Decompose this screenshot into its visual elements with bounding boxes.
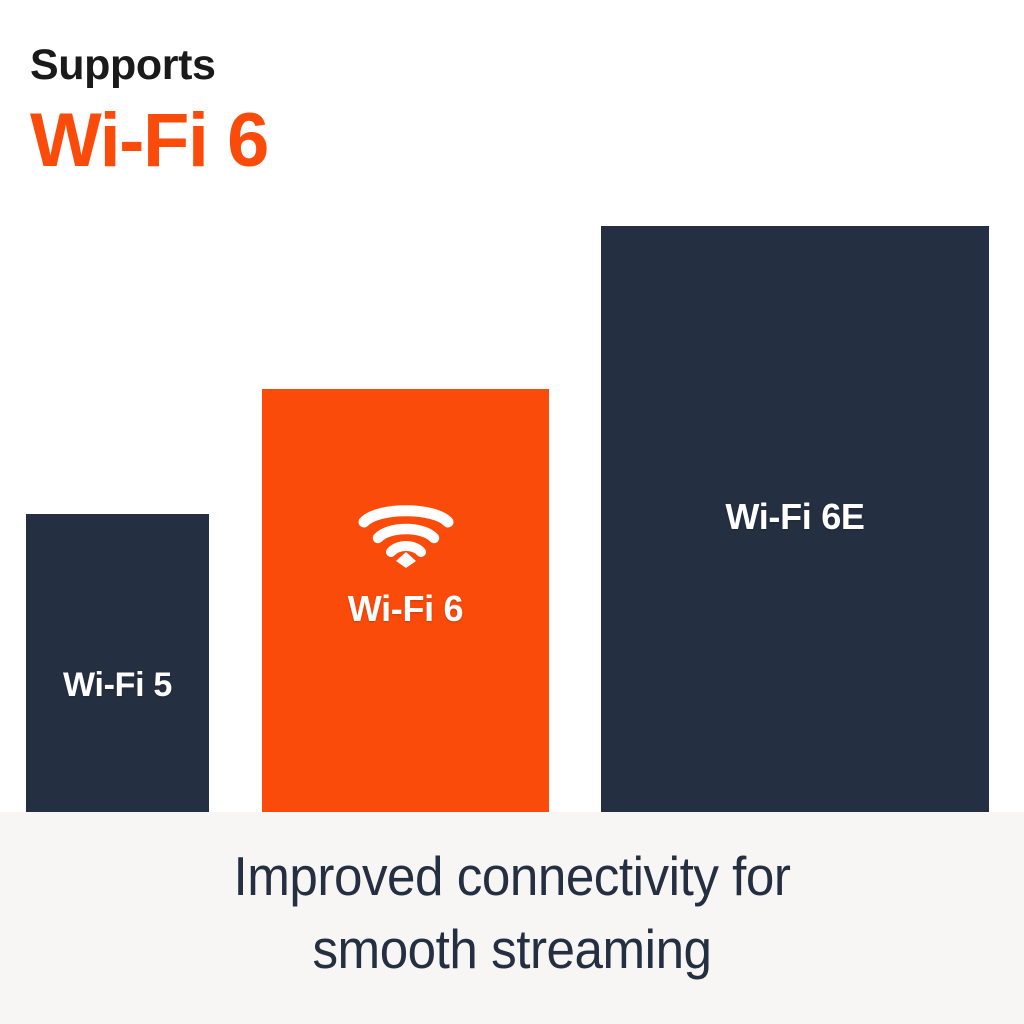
caption-text: Improved connectivity for smooth streami… — [36, 840, 988, 986]
caption-line-1: Improved connectivity for — [36, 840, 988, 913]
chart-bar-wifi-6: Wi-Fi 6 — [262, 389, 549, 812]
wifi-generation-bar-chart: Wi-Fi 5 Wi-Fi 6 Wi-Fi 6E — [0, 0, 1024, 812]
caption-line-2: smooth streaming — [36, 913, 988, 986]
chart-bar-wifi-6e: Wi-Fi 6E — [601, 226, 989, 812]
chart-bar-label: Wi-Fi 6E — [725, 496, 864, 538]
wifi-feature-graphic: Supports Wi-Fi 6 Wi-Fi 5 Wi-Fi 6 Wi-Fi 6… — [0, 0, 1024, 1024]
wifi-signal-icon — [358, 500, 454, 568]
chart-bar-label: Wi-Fi 5 — [63, 666, 172, 705]
chart-bar-label: Wi-Fi 6 — [348, 588, 464, 630]
chart-bar-wifi-5: Wi-Fi 5 — [26, 514, 209, 812]
